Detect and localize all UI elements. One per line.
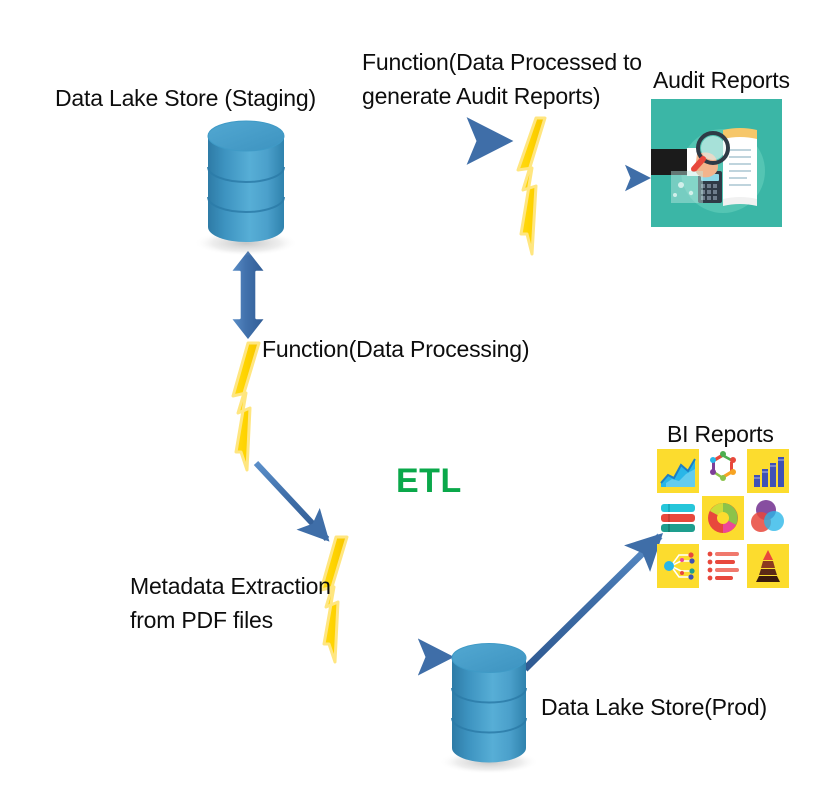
connector-processing-to-metadata-function	[256, 463, 327, 539]
etl-label: ETL	[396, 466, 462, 496]
donut-segments-icon	[702, 449, 744, 493]
connector-prod-store-to-bi-reports	[525, 536, 660, 669]
metadata-label-line1: Metadata Extraction	[130, 571, 331, 601]
etl-architecture-diagram: Data Lake Store (Staging) Function(Data …	[0, 0, 839, 796]
staging-store-label: Data Lake Store (Staging)	[55, 83, 316, 113]
connector-processing-function-to-staging	[230, 249, 266, 341]
venn-diagram-icon	[747, 496, 789, 540]
bi-reports-label: BI Reports	[667, 419, 774, 449]
audit-function-label-line2: generate Audit Reports)	[362, 81, 600, 111]
network-nodes-icon	[657, 544, 699, 588]
audit-function-bolt-icon	[518, 118, 545, 254]
stacked-bars-icon	[657, 496, 699, 540]
audit-illustration	[651, 99, 782, 227]
audit-reports-image	[651, 99, 782, 227]
data-processing-function-label: Function(Data Processing)	[262, 334, 529, 364]
area-chart-icon	[657, 449, 699, 493]
staging-database-cylinder	[194, 121, 298, 256]
bar-chart-icon	[747, 449, 789, 493]
audit-reports-label: Audit Reports	[653, 65, 790, 95]
audit-function-label-line1: Function(Data Processed to	[362, 47, 642, 77]
processing-function-bolt-icon	[233, 343, 259, 470]
prod-database-cylinder	[439, 644, 539, 775]
list-bars-icon	[702, 544, 744, 588]
prod-store-label: Data Lake Store(Prod)	[541, 692, 767, 722]
bi-reports-grid	[657, 449, 789, 591]
metadata-label-line2: from PDF files	[130, 605, 273, 635]
donut-chart-icon	[702, 496, 744, 540]
pyramid-chart-icon	[747, 544, 789, 588]
